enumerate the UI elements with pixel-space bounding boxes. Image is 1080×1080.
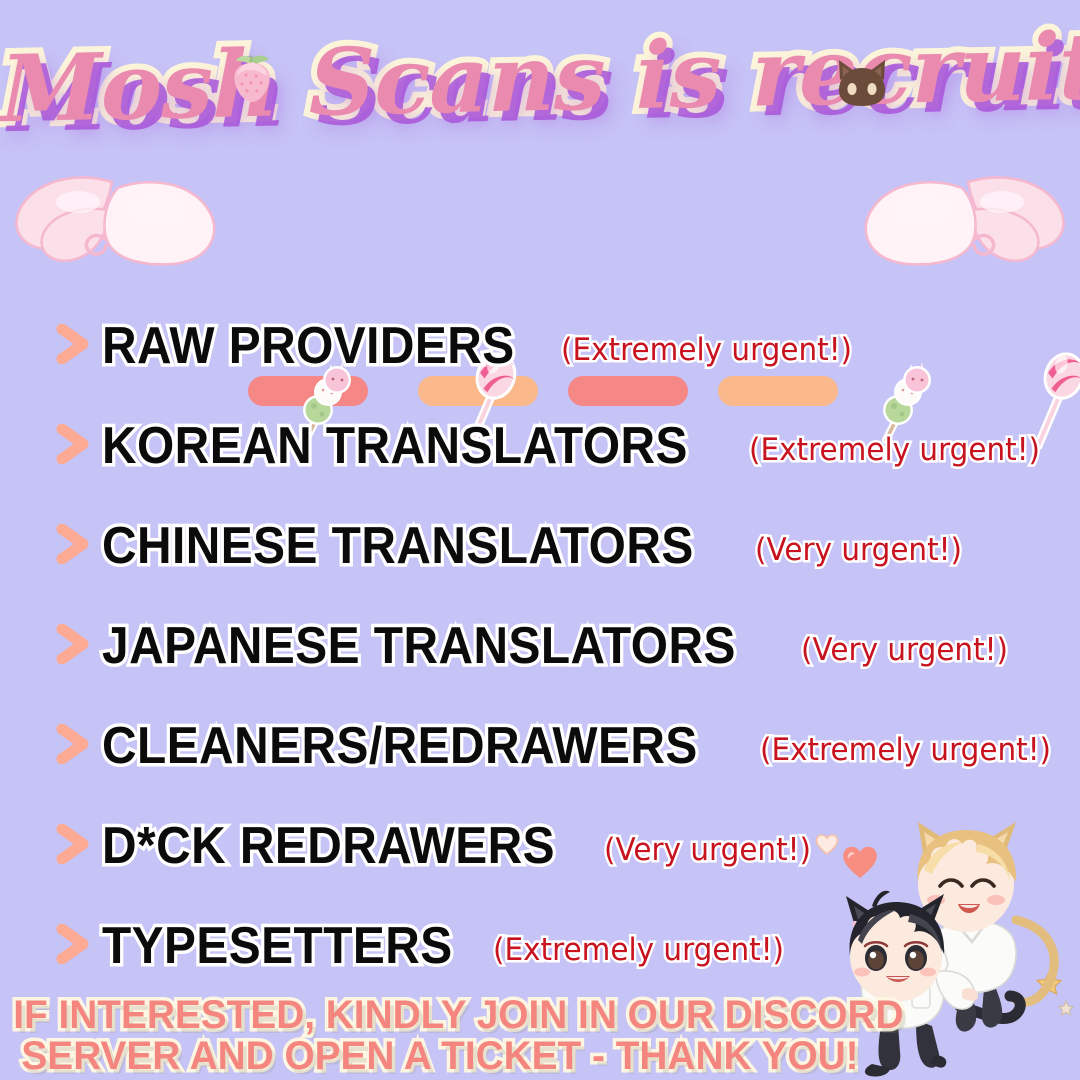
role-urgency: (Extremely urgent!) xyxy=(749,435,1040,466)
role-title: KOREAN TRANSLATORS xyxy=(102,420,688,472)
role-urgency: (Extremely urgent!) xyxy=(561,335,852,366)
chevron-right-icon xyxy=(56,424,90,464)
list-item[interactable]: JAPANESE TRANSLATORS (Very urgent!) xyxy=(0,596,1080,696)
role-title: RAW PROVIDERS xyxy=(102,320,515,372)
header-banner: Mosh Scans is recruiting! xyxy=(0,18,1080,158)
list-item[interactable]: KOREAN TRANSLATORS (Extremely urgent!) xyxy=(0,396,1080,496)
footer-line-1: IF INTERESTED, KINDLY JOIN IN OUR DISCOR… xyxy=(13,995,867,1036)
footer-line-2: SERVER AND OPEN A TICKET - THANK YOU! xyxy=(13,1036,867,1077)
role-title: D*CK REDRAWERS xyxy=(102,820,555,872)
decorative-divider xyxy=(0,160,1080,290)
strawberry-icon xyxy=(228,52,276,104)
role-urgency: (Very urgent!) xyxy=(801,635,1008,666)
footer-call-to-action: IF INTERESTED, KINDLY JOIN IN OUR DISCOR… xyxy=(0,995,880,1077)
chevron-right-icon xyxy=(56,624,90,664)
list-item[interactable]: RAW PROVIDERS (Extremely urgent!) xyxy=(0,296,1080,396)
cat-head-icon xyxy=(834,56,890,106)
winged-cloud-left-icon xyxy=(8,168,228,280)
winged-cloud-right-icon xyxy=(852,168,1072,280)
role-urgency: (Very urgent!) xyxy=(755,535,962,566)
list-item[interactable]: CLEANERS/REDRAWERS (Extremely urgent!) xyxy=(0,696,1080,796)
role-urgency: (Extremely urgent!) xyxy=(760,735,1051,766)
list-item[interactable]: CHINESE TRANSLATORS (Very urgent!) xyxy=(0,496,1080,596)
role-title: CLEANERS/REDRAWERS xyxy=(102,720,698,772)
role-title: JAPANESE TRANSLATORS xyxy=(102,620,736,672)
chevron-right-icon xyxy=(56,524,90,564)
role-title: CHINESE TRANSLATORS xyxy=(102,520,694,572)
chevron-right-icon xyxy=(56,824,90,864)
role-title: TYPESETTERS xyxy=(102,920,453,972)
role-urgency: (Very urgent!) xyxy=(604,835,811,866)
chevron-right-icon xyxy=(56,724,90,764)
chevron-right-icon xyxy=(56,324,90,364)
role-urgency: (Extremely urgent!) xyxy=(493,935,784,966)
chevron-right-icon xyxy=(56,924,90,964)
page-title: Mosh Scans is recruiting! xyxy=(0,7,1080,150)
